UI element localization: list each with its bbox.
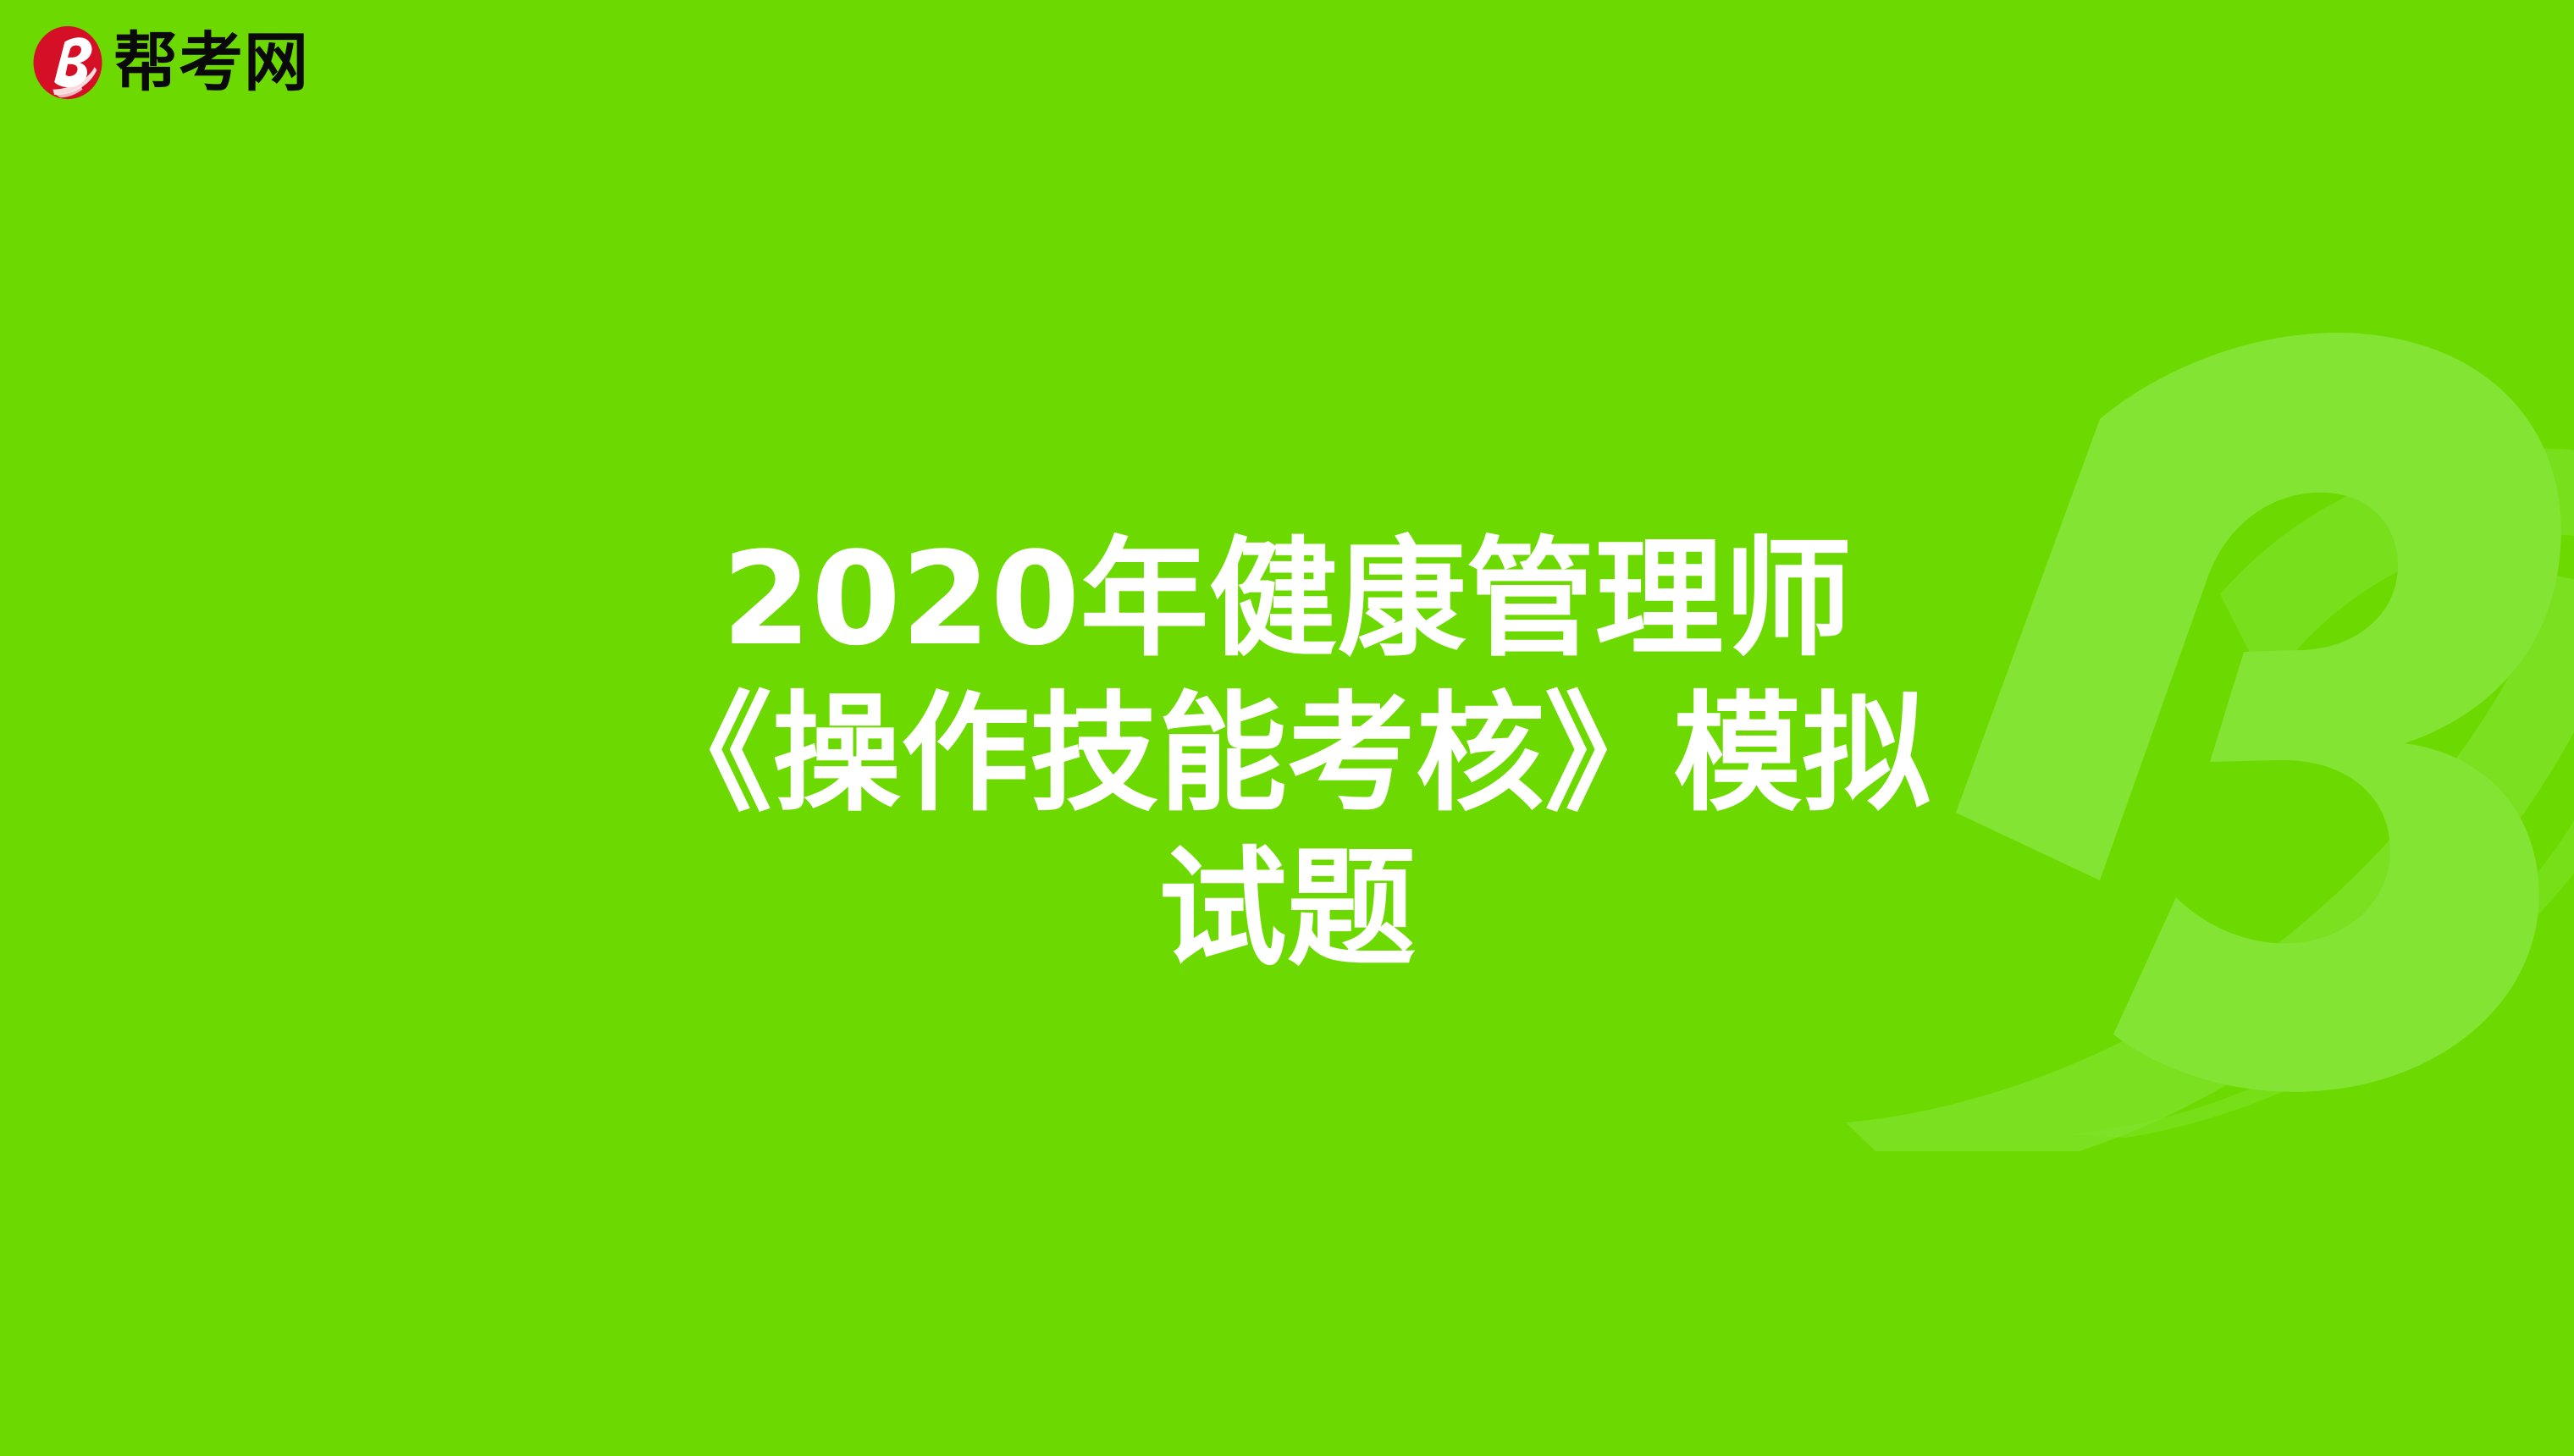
brand-wordmark: 帮考网 (113, 30, 309, 95)
page-title: 2020年健康管理师 《操作技能考核》模拟 试题 (0, 0, 2574, 1456)
title-line-1: 2020年健康管理师 (721, 521, 1852, 676)
title-line-2: 《操作技能考核》模拟 (643, 676, 1930, 831)
brand-b-mark-icon (30, 24, 105, 102)
brand-logo[interactable]: 帮考网 (30, 24, 309, 102)
poster-canvas: 帮考网 2020年健康管理师 《操作技能考核》模拟 试题 (0, 0, 2574, 1456)
title-line-3: 试题 (1158, 831, 1416, 986)
